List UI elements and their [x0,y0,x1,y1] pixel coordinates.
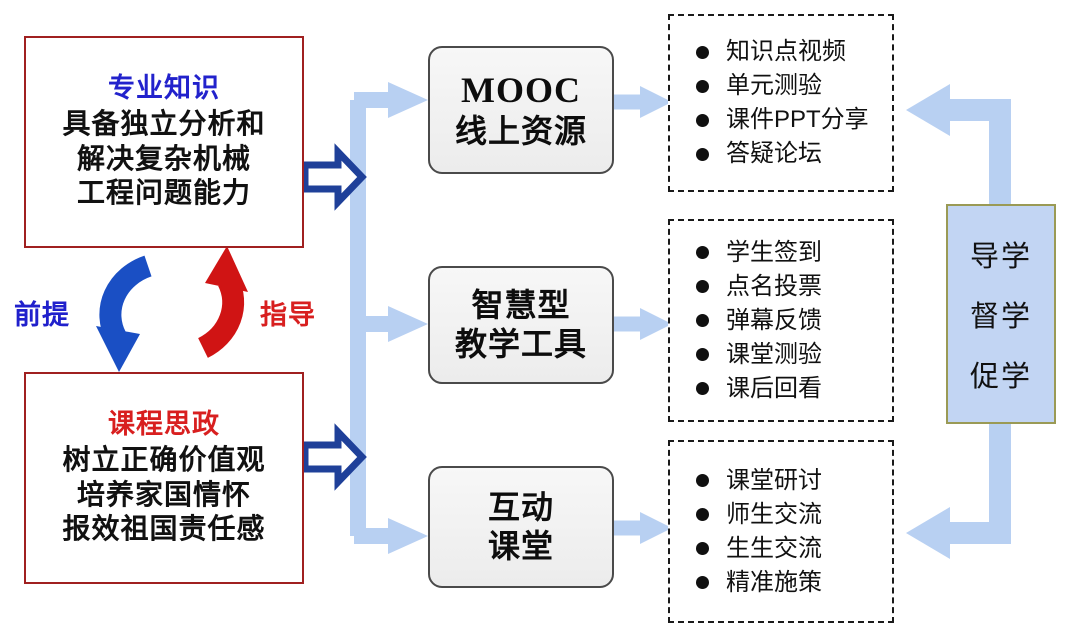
bullet-icon [696,280,709,293]
list-item-label: 课后回看 [726,377,822,401]
list-item-label: 课堂测验 [726,343,822,367]
stage-box-smart-teaching-tool[interactable]: 智慧型 教学工具 [428,266,614,384]
list-item: 师生交流 [696,498,892,532]
list-item-label: 单元测验 [726,74,822,98]
feature-list-smart-tool[interactable]: 学生签到 点名投票 弹幕反馈 课堂测验 课后回看 [668,219,894,422]
list-item-label: 答疑论坛 [726,142,822,166]
list-item: 学生签到 [696,236,892,270]
list-item-label: 学生签到 [726,241,822,265]
concept-box-title: 专业知识 [108,73,220,105]
guidance-line: 督学 [970,293,1032,335]
stage-box-mooc[interactable]: MOOC 线上资源 [428,46,614,174]
list-item-label: 课件PPT分享 [726,108,869,132]
concept-box-line: 具备独立分析和 [62,107,265,142]
bullet-icon [696,148,709,161]
guidance-line: 导学 [970,233,1032,275]
bullet-icon [696,80,709,93]
list-item-label: 生生交流 [726,537,822,561]
bullet-icon [696,382,709,395]
list-item: 课堂测验 [696,338,892,372]
concept-box-line: 工程问题能力 [77,176,251,211]
list-item: 精准施策 [696,566,892,600]
list-item: 课后回看 [696,372,892,406]
stage-box-line: 线上资源 [455,112,587,151]
list-item-label: 知识点视频 [726,40,846,64]
concept-box-professional-knowledge[interactable]: 专业知识 具备独立分析和 解决复杂机械 工程问题能力 [24,36,304,248]
concept-box-curriculum-ideology[interactable]: 课程思政 树立正确价值观 培养家国情怀 报效祖国责任感 [24,372,304,584]
bullet-icon [696,348,709,361]
feature-list-mooc[interactable]: 知识点视频 单元测验 课件PPT分享 答疑论坛 [668,14,894,192]
guidance-box[interactable]: 导学 督学 促学 [946,204,1056,424]
bullet-icon [696,314,709,327]
concept-box-line: 树立正确价值观 [62,443,265,478]
bullet-icon [696,246,709,259]
cycle-label-premise: 前提 [14,293,70,332]
concept-box-title: 课程思政 [108,409,220,441]
stage-box-line: 教学工具 [455,325,587,364]
list-item: 知识点视频 [696,35,892,69]
list-item: 点名投票 [696,270,892,304]
list-item-label: 精准施策 [726,571,822,595]
stage-box-line: 智慧型 [471,286,570,325]
list-item: 单元测验 [696,69,892,103]
arrow-classroom-to-list [613,512,672,544]
stage-box-line: 互动 [488,488,554,527]
bullet-icon [696,474,709,487]
cycle-label-guidance: 指导 [260,293,316,332]
arrow-ideology-to-resources [305,432,362,482]
list-item: 答疑论坛 [696,137,892,171]
stage-box-line: MOOC [461,69,581,113]
bullet-icon [696,114,709,127]
feature-list-classroom[interactable]: 课堂研讨 师生交流 生生交流 精准施策 [668,440,894,623]
list-item: 生生交流 [696,532,892,566]
list-item: 课堂研讨 [696,464,892,498]
arrow-guidance-to-bottom-list [906,422,1000,559]
concept-box-line: 报效祖国责任感 [62,512,265,547]
stage-box-line: 课堂 [488,527,554,566]
list-item-label: 弹幕反馈 [726,309,822,333]
concept-box-line: 培养家国情怀 [77,478,251,513]
stage-box-interactive-classroom[interactable]: 互动 课堂 [428,466,614,588]
list-item-label: 师生交流 [726,503,822,527]
bullet-icon [696,576,709,589]
arrow-mooc-to-list [613,86,672,118]
list-item-label: 点名投票 [726,275,822,299]
arrow-knowledge-to-resources [305,152,362,202]
bullet-icon [696,508,709,521]
cycle-arrow-blue [96,266,148,372]
cycle-arrow-red [203,246,248,348]
list-item: 弹幕反馈 [696,304,892,338]
concept-box-line: 解决复杂机械 [77,142,251,177]
list-item-label: 课堂研讨 [726,469,822,493]
bullet-icon [696,46,709,59]
branch-connector-trunk [354,82,428,554]
diagram-canvas: 专业知识 具备独立分析和 解决复杂机械 工程问题能力 课程思政 树立正确价值观 … [0,0,1080,639]
list-item: 课件PPT分享 [696,103,892,137]
arrow-tool-to-list [613,308,672,340]
arrow-guidance-to-top-list [906,84,1000,206]
bullet-icon [696,542,709,555]
guidance-line: 促学 [970,353,1032,395]
